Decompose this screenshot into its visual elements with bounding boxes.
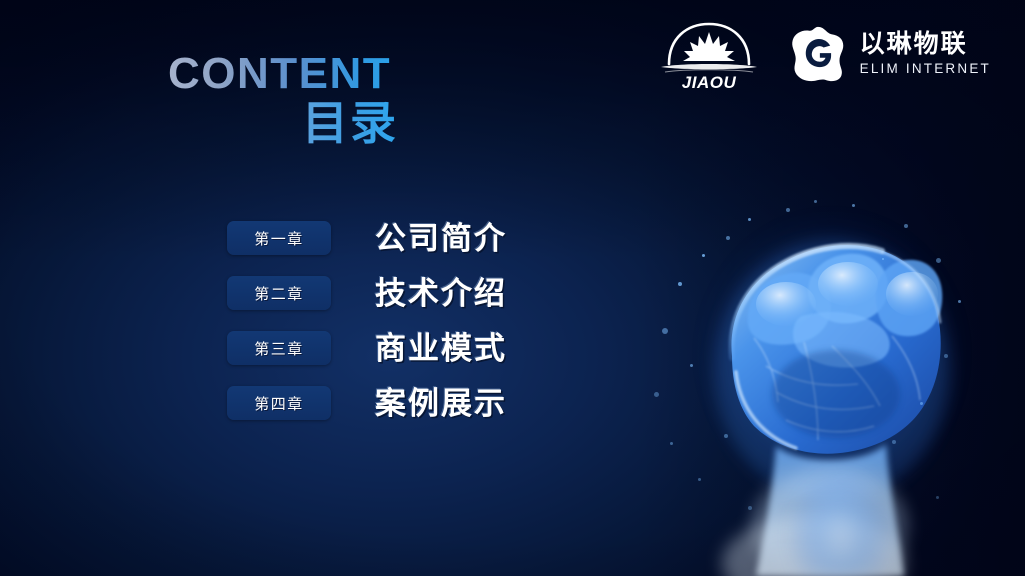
elim-logo-english: ELIM INTERNET bbox=[860, 62, 991, 76]
elim-logo-chinese: 以琳物联 bbox=[860, 32, 991, 57]
chapter-badge-4[interactable]: 第四章 bbox=[227, 386, 331, 420]
chapter-badge-label-3: 第三章 bbox=[254, 338, 304, 359]
chapter-badge-label-1: 第一章 bbox=[254, 228, 304, 249]
chapter-badge-label-2: 第二章 bbox=[254, 283, 304, 304]
chapter-title-4[interactable]: 案例展示 bbox=[375, 388, 507, 419]
logo-group: JIAOU 以琳物联 ELIM INTERNET bbox=[659, 18, 991, 90]
chapter-badge-2[interactable]: 第二章 bbox=[227, 276, 331, 310]
chapter-badge-1[interactable]: 第一章 bbox=[227, 221, 331, 255]
table-of-contents-list: 第一章 公司简介 第二章 技术介绍 第三章 商业模式 第四章 案例展示 bbox=[227, 221, 507, 420]
page-title-english: CONTENT bbox=[168, 52, 398, 96]
chapter-badge-3[interactable]: 第三章 bbox=[227, 331, 331, 365]
chapter-title-2[interactable]: 技术介绍 bbox=[375, 278, 507, 309]
chapter-title-1[interactable]: 公司简介 bbox=[375, 223, 507, 254]
list-item[interactable]: 第三章 商业模式 bbox=[227, 331, 507, 365]
list-item[interactable]: 第四章 案例展示 bbox=[227, 386, 507, 420]
jiaou-logo: JIAOU bbox=[659, 18, 759, 90]
jiaou-logo-mark: JIAOU bbox=[659, 18, 759, 90]
list-item[interactable]: 第一章 公司简介 bbox=[227, 221, 507, 255]
elim-logo-text: 以琳物联 ELIM INTERNET bbox=[860, 32, 991, 76]
page-title: CONTENT 目录 bbox=[168, 52, 398, 146]
chapter-title-3[interactable]: 商业模式 bbox=[375, 333, 507, 364]
elim-internet-logo: 以琳物联 ELIM INTERNET bbox=[789, 25, 991, 83]
jiaou-wordmark: JIAOU bbox=[681, 73, 736, 90]
content-slide: CONTENT 目录 JIAOU bbox=[0, 0, 1025, 576]
list-item[interactable]: 第二章 技术介绍 bbox=[227, 276, 507, 310]
chapter-badge-label-4: 第四章 bbox=[254, 393, 304, 414]
elim-g-mark-icon bbox=[789, 25, 847, 83]
page-title-chinese: 目录 bbox=[168, 100, 398, 146]
